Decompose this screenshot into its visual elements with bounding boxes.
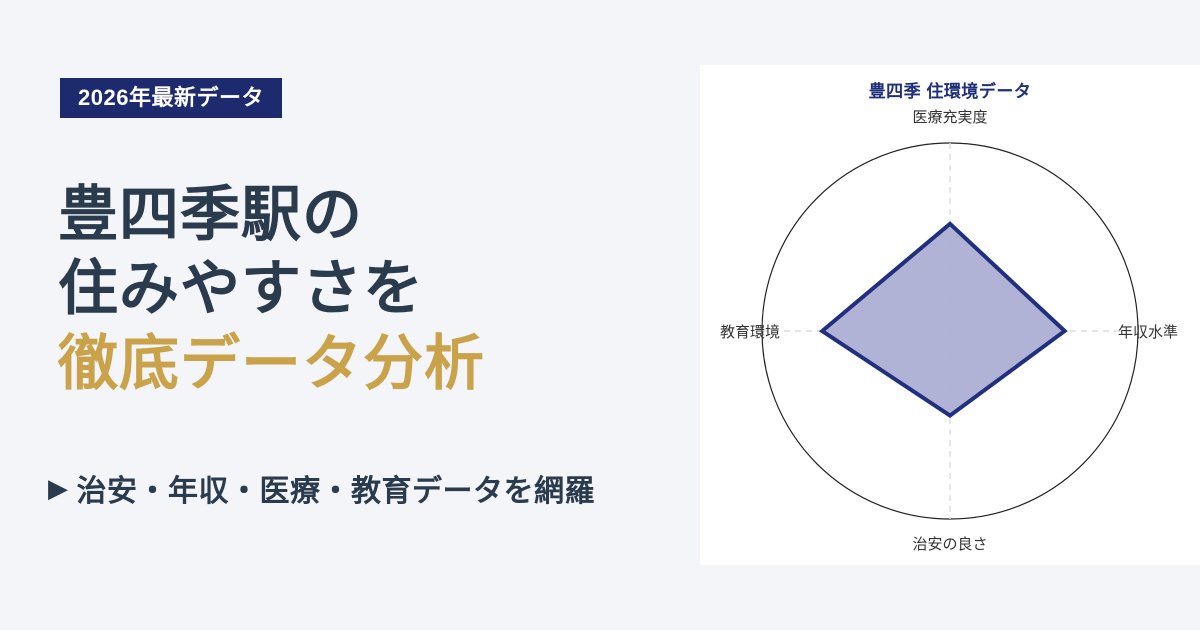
radar-chart-card: 豊四季 住環境データ 医療充実度 年収水準 治安の良さ 教育環境 [700, 65, 1200, 565]
play-triangle-icon: ▶ [48, 475, 69, 501]
left-panel: 2026年最新データ 豊四季駅の 住みやすさを 徹底データ分析 ▶ 治安・年収・… [0, 0, 700, 630]
date-badge: 2026年最新データ [60, 78, 282, 118]
headline-line-3: 徹底データ分析 [58, 327, 678, 401]
poster-root: 2026年最新データ 豊四季駅の 住みやすさを 徹底データ分析 ▶ 治安・年収・… [0, 0, 1200, 630]
page-title: 豊四季駅の 住みやすさを 徹底データ分析 [58, 178, 678, 401]
date-badge-label: 2026年最新データ [78, 87, 264, 109]
subtitle: ▶ 治安・年収・医療・教育データを網羅 [48, 466, 595, 510]
headline-line-1: 豊四季駅の [58, 178, 678, 252]
radar-label-left: 教育環境 [720, 323, 780, 341]
radar-label-bottom: 治安の良さ [912, 536, 987, 553]
radar-data-polygon [822, 224, 1064, 416]
radar-label-top: 医療充実度 [912, 109, 987, 126]
subtitle-label: 治安・年収・医療・教育データを網羅 [77, 466, 596, 510]
radar-label-right: 年収水準 [1118, 324, 1178, 341]
radar-chart-svg: 医療充実度 年収水準 治安の良さ 教育環境 [700, 65, 1200, 565]
headline-line-2: 住みやすさを [58, 252, 678, 326]
